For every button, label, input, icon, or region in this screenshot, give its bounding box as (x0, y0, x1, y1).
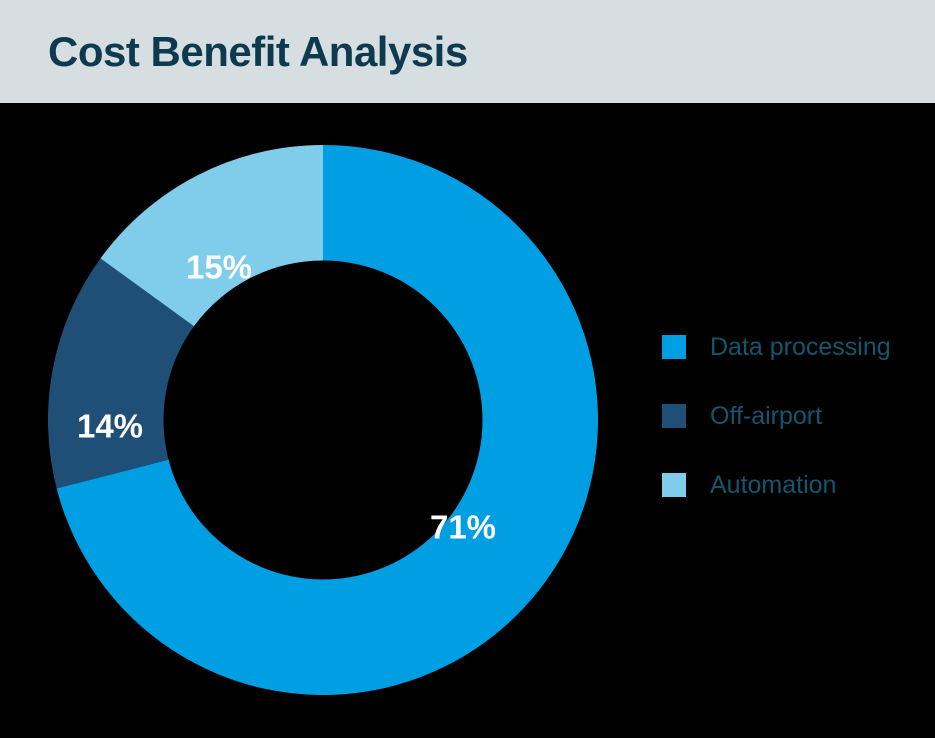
donut-slice-label-data-processing: 71% (430, 509, 496, 546)
legend-item-off-airport[interactable]: Off-airport (662, 404, 922, 428)
legend-swatch-icon-data-processing (662, 335, 686, 359)
donut-slice-label-off-airport: 14% (77, 408, 143, 445)
legend-label-off-airport: Off-airport (710, 403, 822, 429)
legend-item-automation[interactable]: Automation (662, 473, 922, 497)
legend-item-data-processing[interactable]: Data processing (662, 335, 922, 359)
page-title: Cost Benefit Analysis (48, 28, 468, 76)
donut-chart: 71%14%15% (48, 145, 598, 695)
donut-svg: 71%14%15% (48, 145, 598, 695)
donut-slice-label-automation: 15% (186, 249, 252, 286)
legend-label-data-processing: Data processing (710, 334, 891, 360)
legend-swatch-icon-automation (662, 473, 686, 497)
legend-label-automation: Automation (710, 472, 836, 498)
chart-area: 71%14%15% Data processing Off-airport Au… (0, 103, 935, 738)
chart-legend: Data processing Off-airport Automation (662, 335, 922, 497)
header-bar: Cost Benefit Analysis (0, 0, 935, 103)
chart-page: Cost Benefit Analysis 71%14%15% Data pro… (0, 0, 935, 738)
legend-swatch-icon-off-airport (662, 404, 686, 428)
